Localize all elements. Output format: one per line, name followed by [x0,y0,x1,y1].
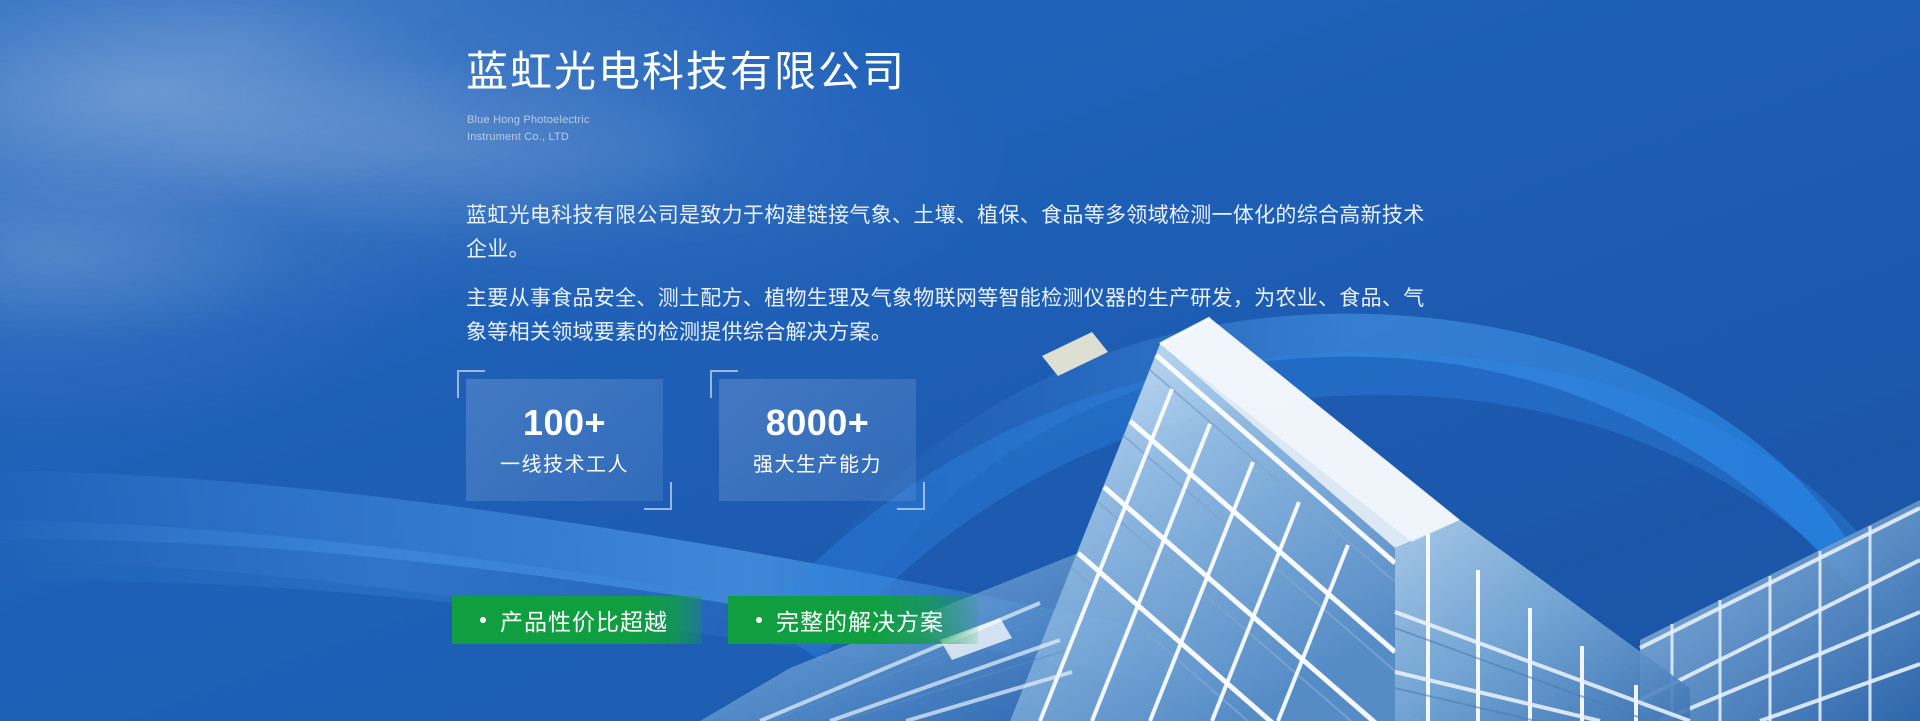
feature-tag-solution-label: 完整的解决方案 [776,603,944,637]
corner-bracket-bottom-right-icon [644,482,672,510]
stat-value-capacity: 8000+ [766,405,870,441]
intro-paragraph-2: 主要从事食品安全、测土配方、植物生理及气象物联网等智能检测仪器的生产研发，为农业… [466,282,1441,350]
stat-card-workers: 100+ 一线技术工人 [466,379,663,501]
feature-tag-value-label: 产品性价比超越 [500,603,668,637]
intro-paragraph-1: 蓝虹光电科技有限公司是致力于构建链接气象、土壤、植保、食品等多领域检测一体化的综… [466,199,1441,267]
feature-tags-group: 产品性价比超越 完整的解决方案 [452,596,978,644]
stat-label-workers: 一线技术工人 [500,455,629,475]
company-title: 蓝虹光电科技有限公司 [466,51,906,93]
corner-bracket-top-left-icon [710,370,738,398]
bullet-dot-icon [480,617,486,623]
bullet-dot-icon [756,617,762,623]
company-english-name-line2: Instrument Co., LTD [467,129,590,146]
company-english-name-line1: Blue Hong Photoelectric [467,112,590,129]
stat-label-capacity: 强大生产能力 [753,455,882,475]
stat-card-capacity: 8000+ 强大生产能力 [719,379,916,501]
feature-tag-solution: 完整的解决方案 [728,596,978,644]
feature-tag-value: 产品性价比超越 [452,596,702,644]
corner-bracket-top-left-icon [457,370,485,398]
company-english-name: Blue Hong Photoelectric Instrument Co., … [467,112,590,146]
company-hero-banner: 蓝虹光电科技有限公司 Blue Hong Photoelectric Instr… [0,0,1920,721]
stats-group: 100+ 一线技术工人 8000+ 强大生产能力 [466,379,916,501]
stat-value-workers: 100+ [523,405,606,441]
corner-bracket-bottom-right-icon [897,482,925,510]
